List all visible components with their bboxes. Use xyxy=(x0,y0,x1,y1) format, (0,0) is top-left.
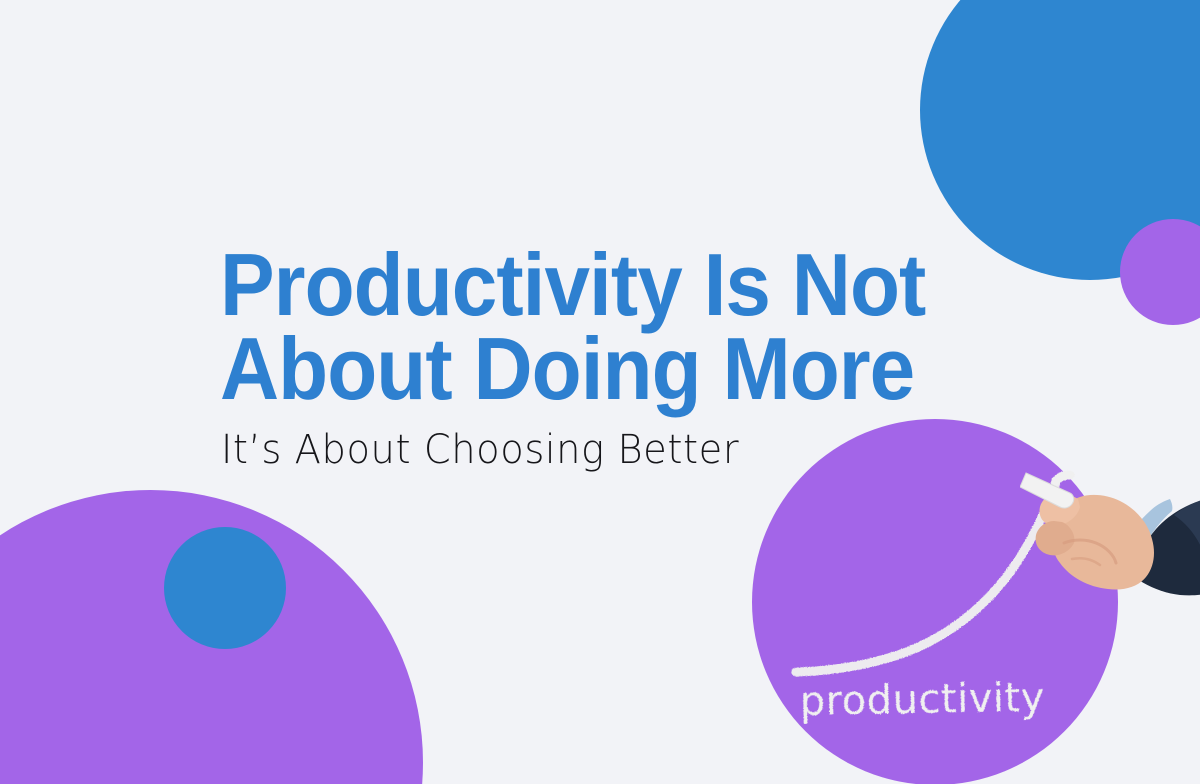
hand-holding-chalk-icon xyxy=(1020,459,1200,634)
productivity-illustration: productivity xyxy=(752,419,1200,784)
page-subtitle: It’s About Choosing Better xyxy=(221,427,739,473)
blue-circle-bottom-left-decoration xyxy=(164,527,286,649)
page-title-line-2: About Doing More xyxy=(220,327,945,411)
banner-canvas: Productivity Is Not About Doing More It’… xyxy=(0,0,1200,784)
growth-curve-line xyxy=(796,481,1056,672)
page-title-line-1: Productivity Is Not xyxy=(220,243,945,327)
chart-label-productivity: productivity xyxy=(799,675,1045,725)
page-title: Productivity Is Not About Doing More xyxy=(220,243,945,412)
